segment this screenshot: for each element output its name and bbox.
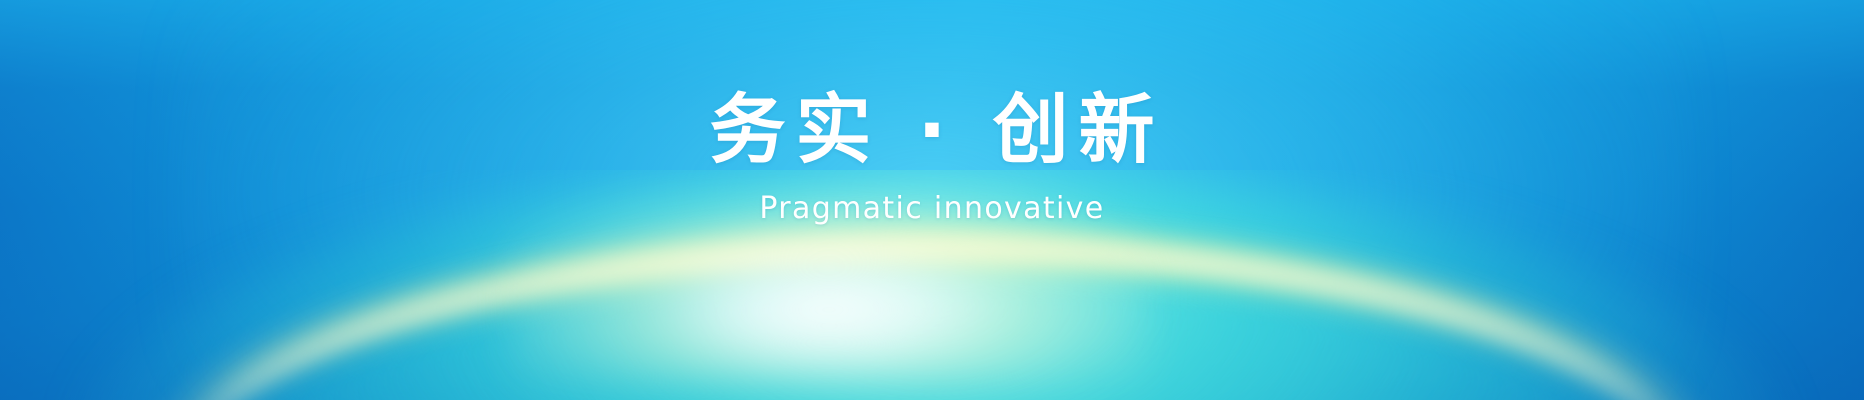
- banner-headline: 务实 · 创新: [700, 92, 1165, 168]
- banner-content: 务实 · 创新 Pragmatic innovative: [0, 0, 1864, 400]
- banner-subtitle: Pragmatic innovative: [759, 194, 1104, 224]
- hero-banner: 务实 · 创新 Pragmatic innovative: [0, 0, 1864, 400]
